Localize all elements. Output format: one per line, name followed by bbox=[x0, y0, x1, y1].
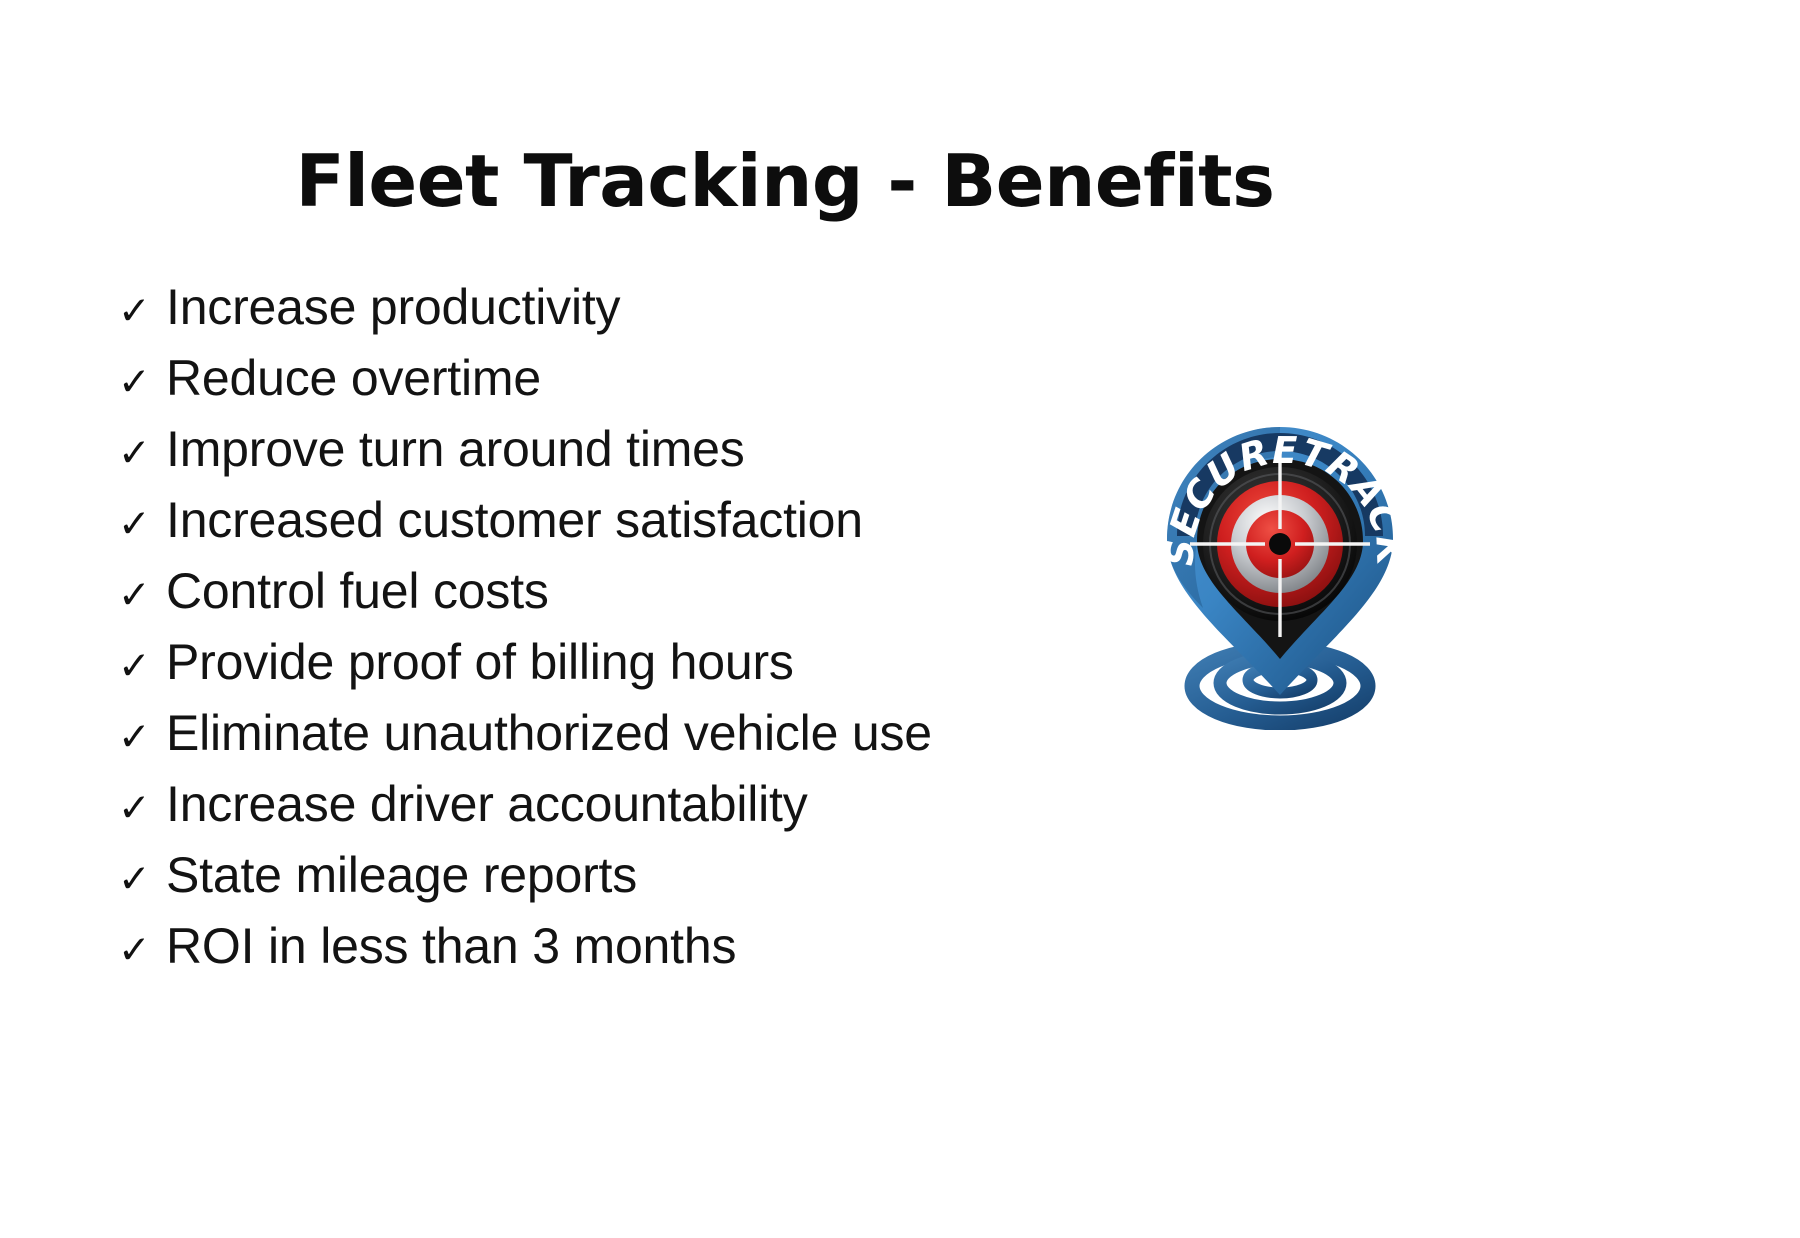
page-title: Fleet Tracking - Benefits bbox=[0, 144, 1570, 220]
list-item-label: Improve turn around times bbox=[166, 414, 1148, 485]
list-item-label: Control fuel costs bbox=[166, 556, 1148, 627]
list-item: ✓ Improve turn around times bbox=[118, 414, 1148, 485]
check-icon: ✓ bbox=[118, 844, 166, 915]
list-item-label: State mileage reports bbox=[166, 840, 1148, 911]
check-icon: ✓ bbox=[118, 773, 166, 844]
securetrack-logo: SECURETRACK bbox=[1135, 405, 1425, 730]
list-item: ✓ Provide proof of billing hours bbox=[118, 627, 1148, 698]
list-item: ✓ Increase driver accountability bbox=[118, 769, 1148, 840]
list-item-label: Provide proof of billing hours bbox=[166, 627, 1148, 698]
list-item-label: Increased customer satisfaction bbox=[166, 485, 1148, 556]
target-bullseye bbox=[1269, 533, 1291, 555]
check-icon: ✓ bbox=[118, 702, 166, 773]
benefits-list: ✓ Increase productivity ✓ Reduce overtim… bbox=[118, 272, 1148, 982]
list-item-label: Increase productivity bbox=[166, 272, 1148, 343]
list-item-label: Increase driver accountability bbox=[166, 769, 1148, 840]
list-item: ✓ Eliminate unauthorized vehicle use bbox=[118, 698, 1148, 769]
list-item-label: Reduce overtime bbox=[166, 343, 1148, 414]
check-icon: ✓ bbox=[118, 418, 166, 489]
slide-canvas: Fleet Tracking - Benefits ✓ Increase pro… bbox=[0, 0, 1800, 1238]
list-item: ✓ Control fuel costs bbox=[118, 556, 1148, 627]
list-item: ✓ Increased customer satisfaction bbox=[118, 485, 1148, 556]
list-item: ✓ ROI in less than 3 months bbox=[118, 911, 1148, 982]
list-item: ✓ Increase productivity bbox=[118, 272, 1148, 343]
list-item: ✓ State mileage reports bbox=[118, 840, 1148, 911]
check-icon: ✓ bbox=[118, 560, 166, 631]
check-icon: ✓ bbox=[118, 489, 166, 560]
check-icon: ✓ bbox=[118, 347, 166, 418]
list-item-label: ROI in less than 3 months bbox=[166, 911, 1148, 982]
check-icon: ✓ bbox=[118, 276, 166, 347]
map-pin-target-icon: SECURETRACK bbox=[1135, 405, 1425, 730]
list-item-label: Eliminate unauthorized vehicle use bbox=[166, 698, 1148, 769]
check-icon: ✓ bbox=[118, 915, 166, 986]
list-item: ✓ Reduce overtime bbox=[118, 343, 1148, 414]
check-icon: ✓ bbox=[118, 631, 166, 702]
